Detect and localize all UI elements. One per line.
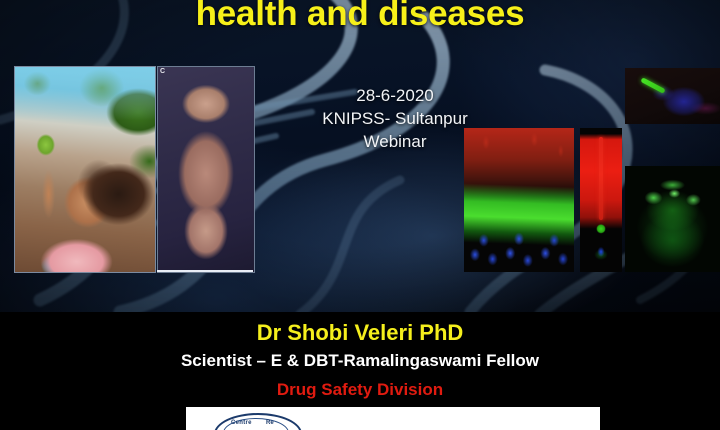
- presenter-name: Dr Shobi Veleri PhD: [0, 320, 720, 346]
- presenter-division: Drug Safety Division: [0, 380, 720, 400]
- institution-logo-panel: Centre Re: [186, 407, 600, 430]
- figure-cilium-nuclei: [625, 68, 720, 124]
- figure-fetal-specimen-underline: [157, 270, 253, 272]
- institution-emblem-icon: Centre Re: [214, 413, 300, 430]
- figure-child-mango: [14, 66, 156, 273]
- figure-photoreceptor-cell: [580, 128, 622, 272]
- presentation-slide: health and diseases 28-6-2020 KNIPSS- Su…: [0, 0, 720, 430]
- emblem-text-left: Centre: [231, 420, 252, 426]
- event-date: 28-6-2020: [290, 84, 500, 107]
- slide-title: health and diseases: [0, 0, 720, 34]
- figure-brain-section: [625, 166, 720, 272]
- figure-fetal-specimen: [157, 66, 255, 273]
- event-venue: KNIPSS- Sultanpur: [290, 107, 500, 130]
- presenter-role: Scientist – E & DBT-Ramalingaswami Fello…: [0, 351, 720, 371]
- figure-retina-immunofluorescence: [464, 128, 574, 272]
- emblem-text-right: Re: [266, 420, 274, 426]
